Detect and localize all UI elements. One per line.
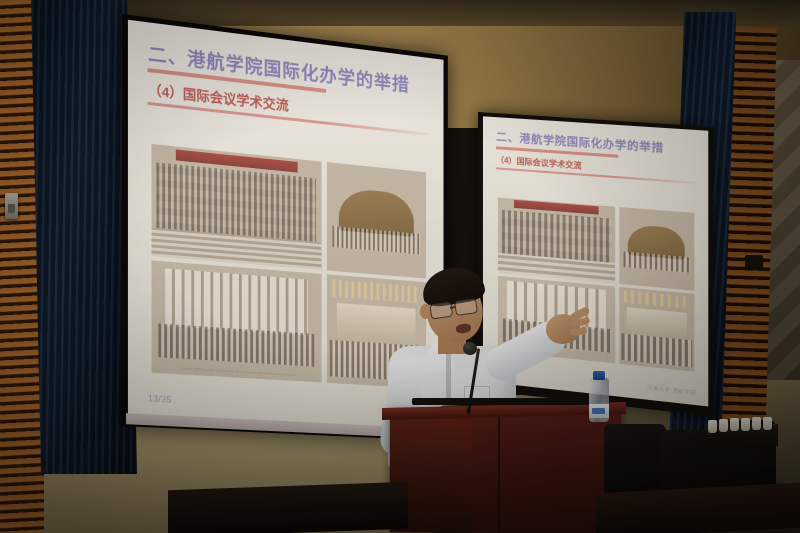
lectern-edge-seam [498,412,500,533]
photo-caption: CHINESE-GERMAN JOINT SYMPOSIUM ON HYDRAU… [162,367,311,380]
lectern [390,411,621,533]
crowd-rows [622,333,692,367]
microphone-head [463,342,477,355]
paper-cup [752,417,761,430]
front-row-table-left [168,482,408,533]
lecture-hall-scene: 二、港航学院国际化办学的举措 （4）国际会议学术交流 [0,0,800,533]
paper-cup [730,418,739,431]
paper-cup [741,418,750,431]
wall-light-fixture [5,193,18,219]
bottle-cap [593,371,605,380]
bottle-label [589,404,609,418]
slide-page-number: 13/35 [148,394,172,405]
photo-conference-hall [619,287,694,372]
hall-banner-text [624,290,690,309]
lectern-shelf [412,398,598,405]
photo-conference-group-steps [151,144,321,269]
paper-cup [719,419,728,432]
photo-field-trip-desert [619,207,694,291]
paper-cup [763,417,772,430]
finger [570,327,588,336]
paper-cup [708,420,717,433]
auditorium-seat [604,424,666,498]
wall-speaker-icon [745,255,763,269]
photo-conference-group-columns: CHINESE-GERMAN JOINT SYMPOSIUM ON HYDRAU… [151,261,321,382]
glasses-bridge [450,306,455,308]
institution-watermark: 河海大学 港航学院 [647,384,697,397]
